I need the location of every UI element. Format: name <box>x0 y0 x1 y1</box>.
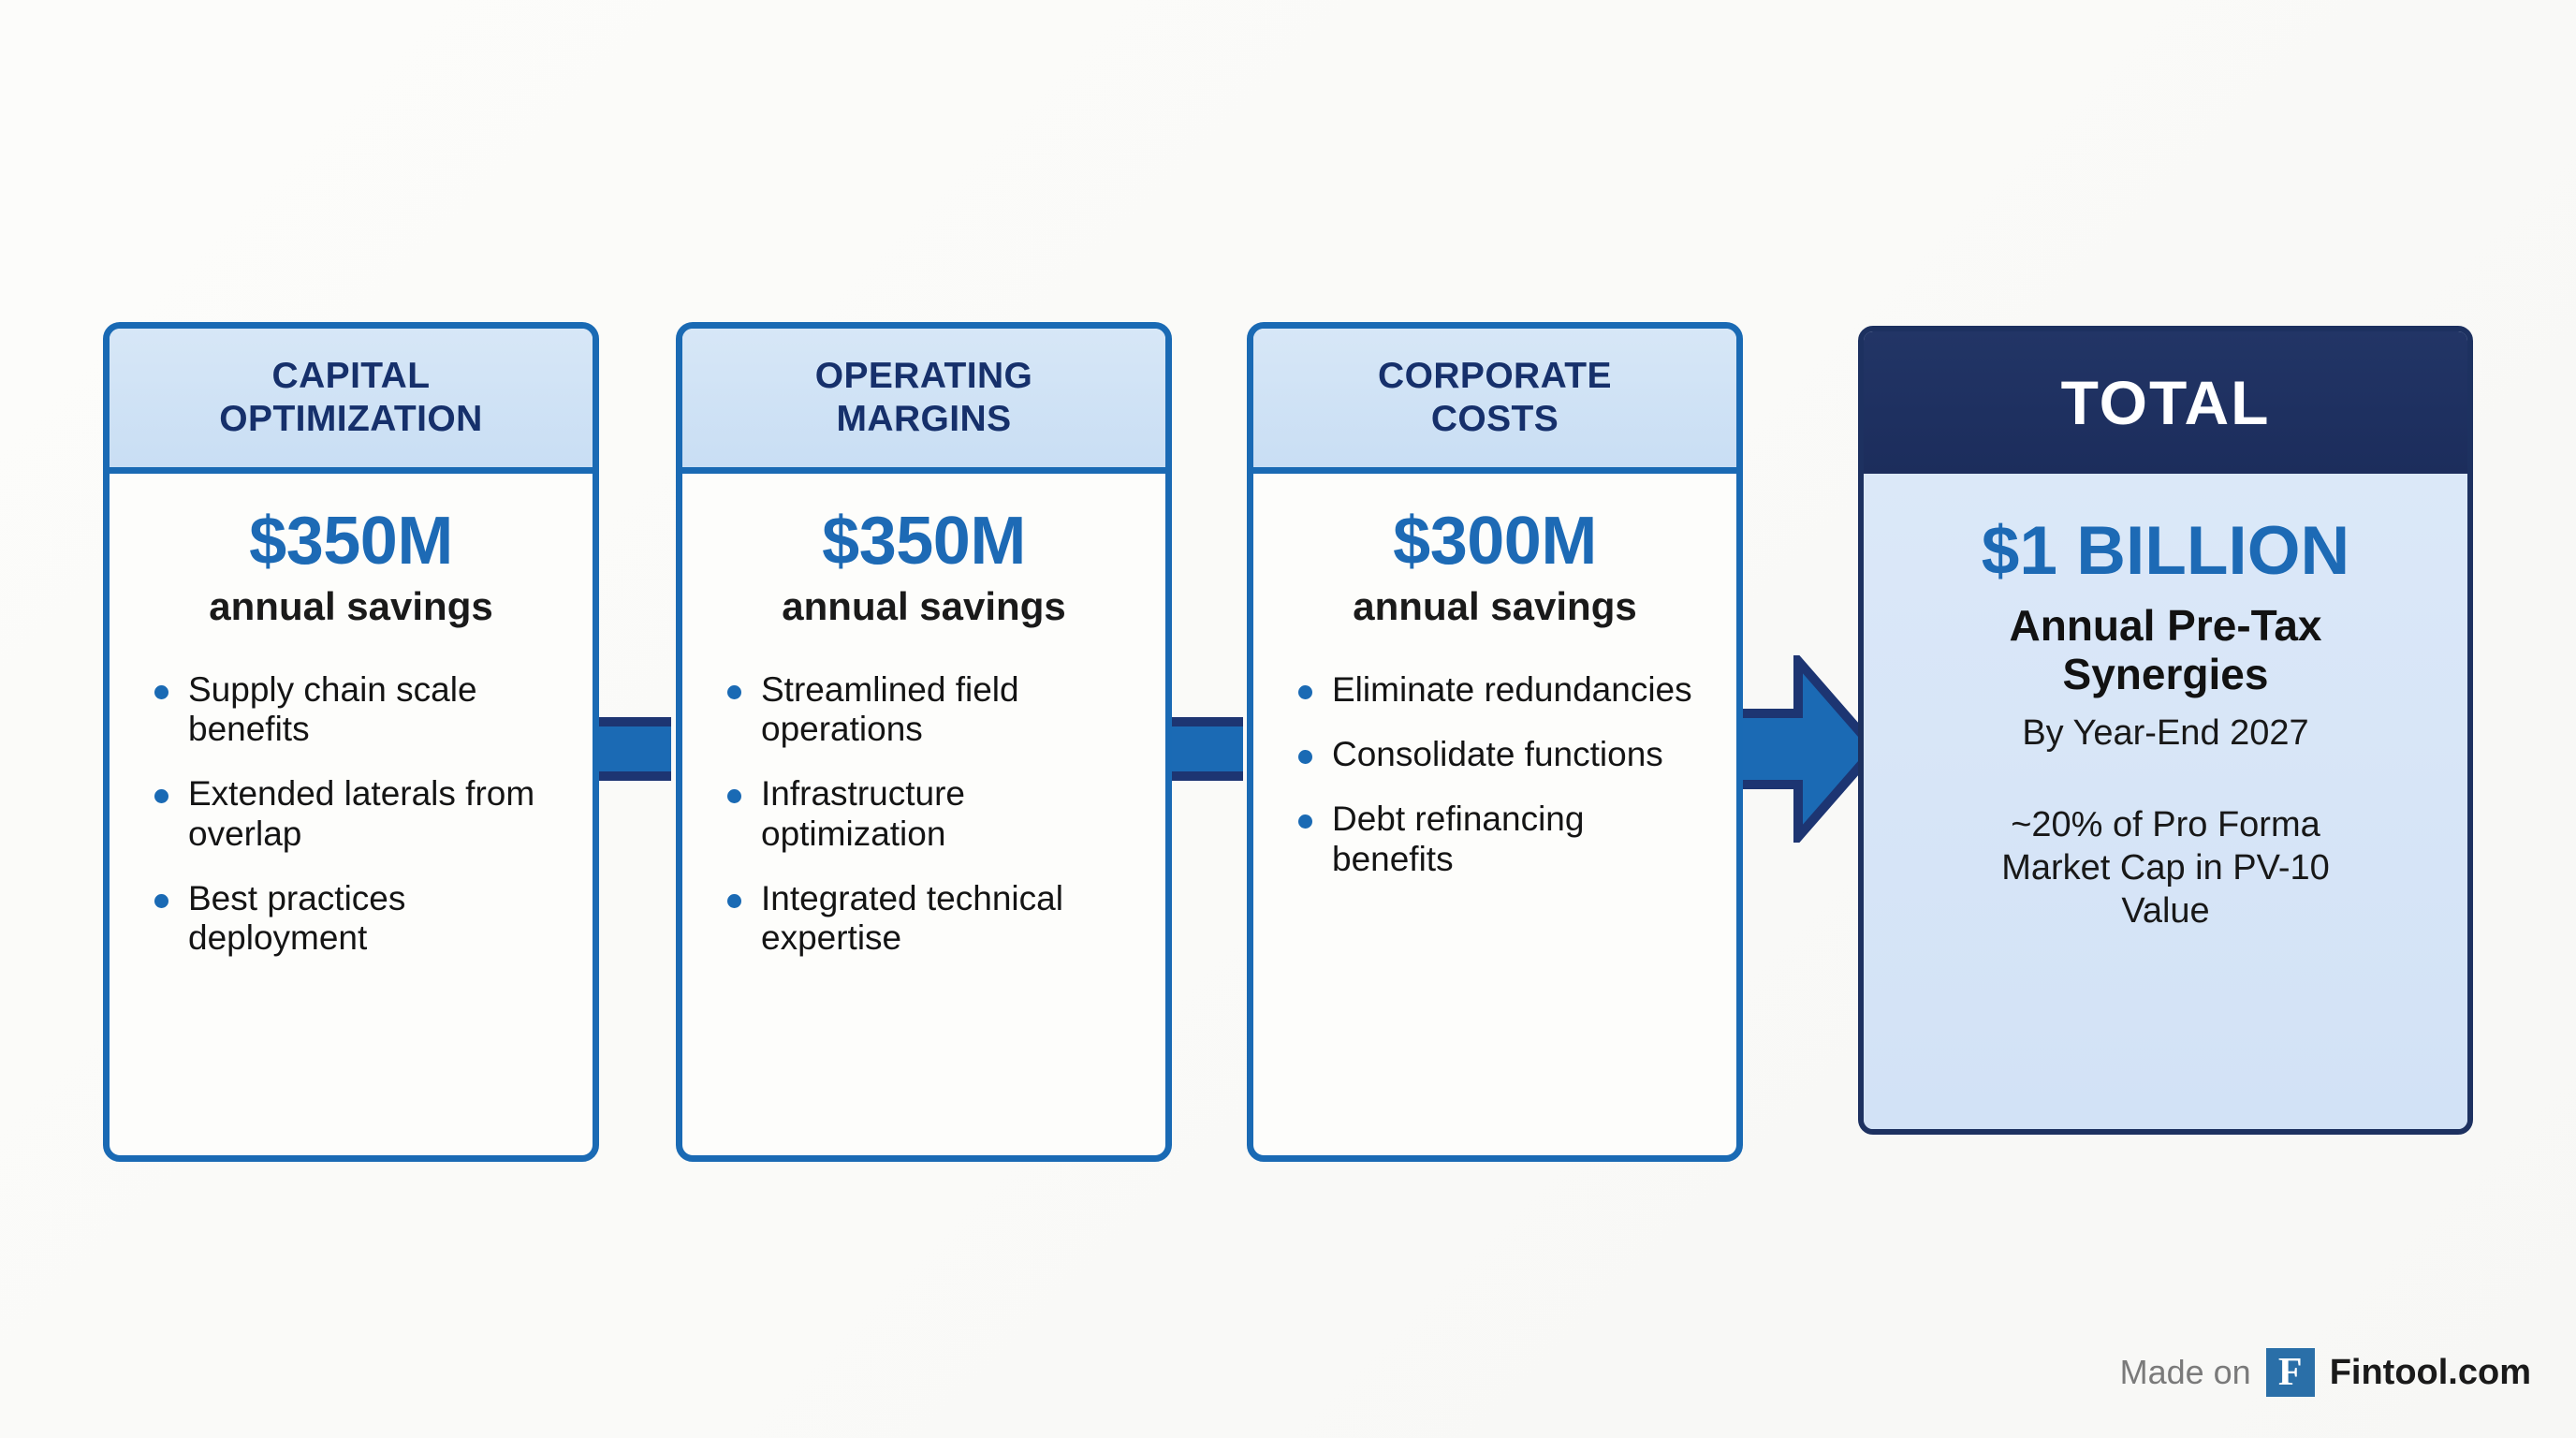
card-title: CAPITAL OPTIMIZATION <box>219 355 482 440</box>
total-header: TOTAL <box>1864 331 2467 474</box>
watermark: Made on F Fintool.com <box>2120 1348 2531 1397</box>
savings-amount: $350M <box>138 507 564 575</box>
card-body: $350M annual savings Supply chain scale … <box>110 474 593 1155</box>
total-panel[interactable]: TOTAL $1 BILLION Annual Pre-Tax Synergie… <box>1858 326 2473 1135</box>
driver-card-corporate-costs[interactable]: CORPORATE COSTS $300M annual savings Eli… <box>1247 322 1743 1162</box>
list-item: Debt refinancing benefits <box>1295 800 1705 878</box>
connector-card2-card3 <box>1161 717 1243 781</box>
benefit-list: Supply chain scale benefits Extended lat… <box>138 670 564 983</box>
connector-card1-card2 <box>589 717 671 781</box>
list-item: Extended laterals from overlap <box>151 774 561 853</box>
savings-amount-label: annual savings <box>138 586 564 627</box>
fintool-logo-icon: F <box>2266 1348 2315 1397</box>
card-title: CORPORATE COSTS <box>1378 355 1612 440</box>
savings-amount: $300M <box>1281 507 1708 575</box>
list-item: Supply chain scale benefits <box>151 670 561 749</box>
total-body: $1 BILLION Annual Pre-Tax Synergies By Y… <box>1864 474 2467 1129</box>
driver-card-capital-optimization[interactable]: CAPITAL OPTIMIZATION $350M annual saving… <box>103 322 599 1162</box>
total-timing: By Year-End 2027 <box>1888 713 2443 754</box>
driver-card-operating-margins[interactable]: OPERATING MARGINS $350M annual savings S… <box>676 322 1172 1162</box>
list-item: Streamlined field operations <box>724 670 1134 749</box>
savings-amount-label: annual savings <box>710 586 1137 627</box>
watermark-made-on: Made on <box>2120 1353 2251 1392</box>
benefit-list: Eliminate redundancies Consolidate funct… <box>1281 670 1708 904</box>
savings-amount-label: annual savings <box>1281 586 1708 627</box>
watermark-site: Fintool.com <box>2330 1353 2531 1393</box>
list-item: Eliminate redundancies <box>1295 670 1705 710</box>
total-title: TOTAL <box>2061 367 2271 438</box>
total-subtitle: Annual Pre-Tax Synergies <box>1888 602 2443 698</box>
list-item: Best practices deployment <box>151 879 561 958</box>
card-body: $300M annual savings Eliminate redundanc… <box>1253 474 1736 1155</box>
total-market-cap-note: ~20% of Pro Forma Market Cap in PV-10 Va… <box>1888 804 2443 932</box>
synergy-diagram: CAPITAL OPTIMIZATION $350M annual saving… <box>0 0 2576 1438</box>
card-body: $350M annual savings Streamlined field o… <box>682 474 1165 1155</box>
list-item: Integrated technical expertise <box>724 879 1134 958</box>
card-header: OPERATING MARGINS <box>682 329 1165 474</box>
savings-amount: $350M <box>710 507 1137 575</box>
card-title: OPERATING MARGINS <box>815 355 1033 440</box>
benefit-list: Streamlined field operations Infrastruct… <box>710 670 1137 983</box>
list-item: Infrastructure optimization <box>724 774 1134 853</box>
card-header: CORPORATE COSTS <box>1253 329 1736 474</box>
card-header: CAPITAL OPTIMIZATION <box>110 329 593 474</box>
right-arrow-icon <box>1727 655 1877 843</box>
list-item: Consolidate functions <box>1295 735 1705 774</box>
total-amount: $1 BILLION <box>1888 517 2443 585</box>
